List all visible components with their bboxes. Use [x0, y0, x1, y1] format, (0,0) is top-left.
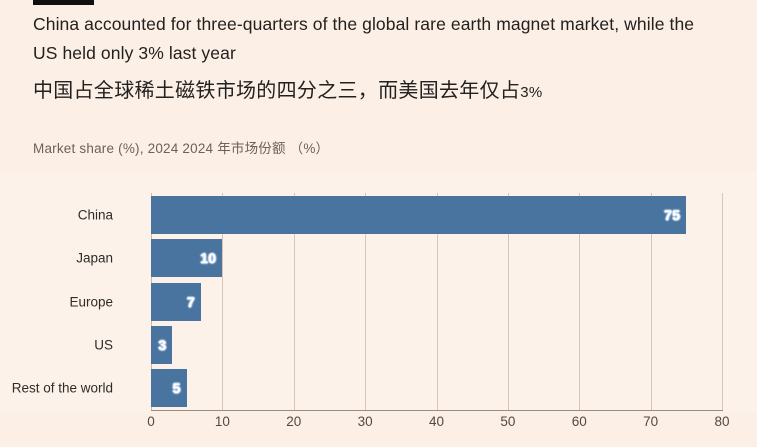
category-label-europe: Europe [69, 294, 113, 309]
bar-us[interactable]: 3 [151, 326, 172, 364]
bar-row[interactable]: Japan10 [151, 239, 722, 277]
bar-europe[interactable]: 7 [151, 283, 201, 321]
x-tick-80: 80 [714, 414, 729, 429]
chart-page: { "header": { "logo_bar": "publisher-log… [0, 0, 757, 447]
x-tick-50: 50 [500, 414, 515, 429]
header: China accounted for three-quarters of th… [33, 10, 733, 110]
chart-subtitle: Market share (%), 2024 2024 年市场份额 （%） [33, 137, 329, 157]
bar-value-us: 3 [158, 337, 166, 353]
bar-row[interactable]: China75 [151, 196, 722, 234]
gridline-80 [722, 193, 723, 410]
x-tick-70: 70 [643, 414, 658, 429]
headline-chinese-main: 中国占全球稀土磁铁市场的四分之三，而美国去年仅占 [33, 80, 520, 102]
bar-rest-of-the-world[interactable]: 5 [151, 369, 187, 407]
headline-english: China accounted for three-quarters of th… [33, 10, 723, 68]
bar-row[interactable]: US3 [151, 326, 722, 364]
plot-area: China75Japan10Europe7US3Rest of the worl… [151, 193, 722, 410]
chart-panel: China75Japan10Europe7US3Rest of the worl… [0, 172, 757, 412]
bar-value-japan: 10 [200, 250, 216, 266]
bar-japan[interactable]: 10 [151, 239, 222, 277]
x-tick-40: 40 [429, 414, 444, 429]
x-tick-30: 30 [358, 414, 373, 429]
x-axis-line [151, 410, 723, 411]
bar-value-europe: 7 [187, 294, 195, 310]
x-tick-60: 60 [572, 414, 587, 429]
x-tick-0: 0 [147, 414, 155, 429]
headline-chinese-percent: 3% [520, 84, 542, 101]
category-label-us: US [94, 337, 113, 352]
x-tick-20: 20 [286, 414, 301, 429]
publisher-logo-crop [33, 0, 94, 5]
category-label-china: China [78, 207, 113, 222]
headline-chinese: 中国占全球稀土磁铁市场的四分之三，而美国去年仅占3% [33, 74, 733, 110]
category-label-rest-of-the-world: Rest of the world [12, 381, 113, 396]
bar-value-china: 75 [664, 207, 680, 223]
bar-row[interactable]: Europe7 [151, 283, 722, 321]
x-tick-10: 10 [215, 414, 230, 429]
bar-china[interactable]: 75 [151, 196, 686, 234]
bar-value-rest-of-the-world: 5 [173, 380, 181, 396]
bar-row[interactable]: Rest of the world5 [151, 369, 722, 407]
category-label-japan: Japan [76, 251, 113, 266]
